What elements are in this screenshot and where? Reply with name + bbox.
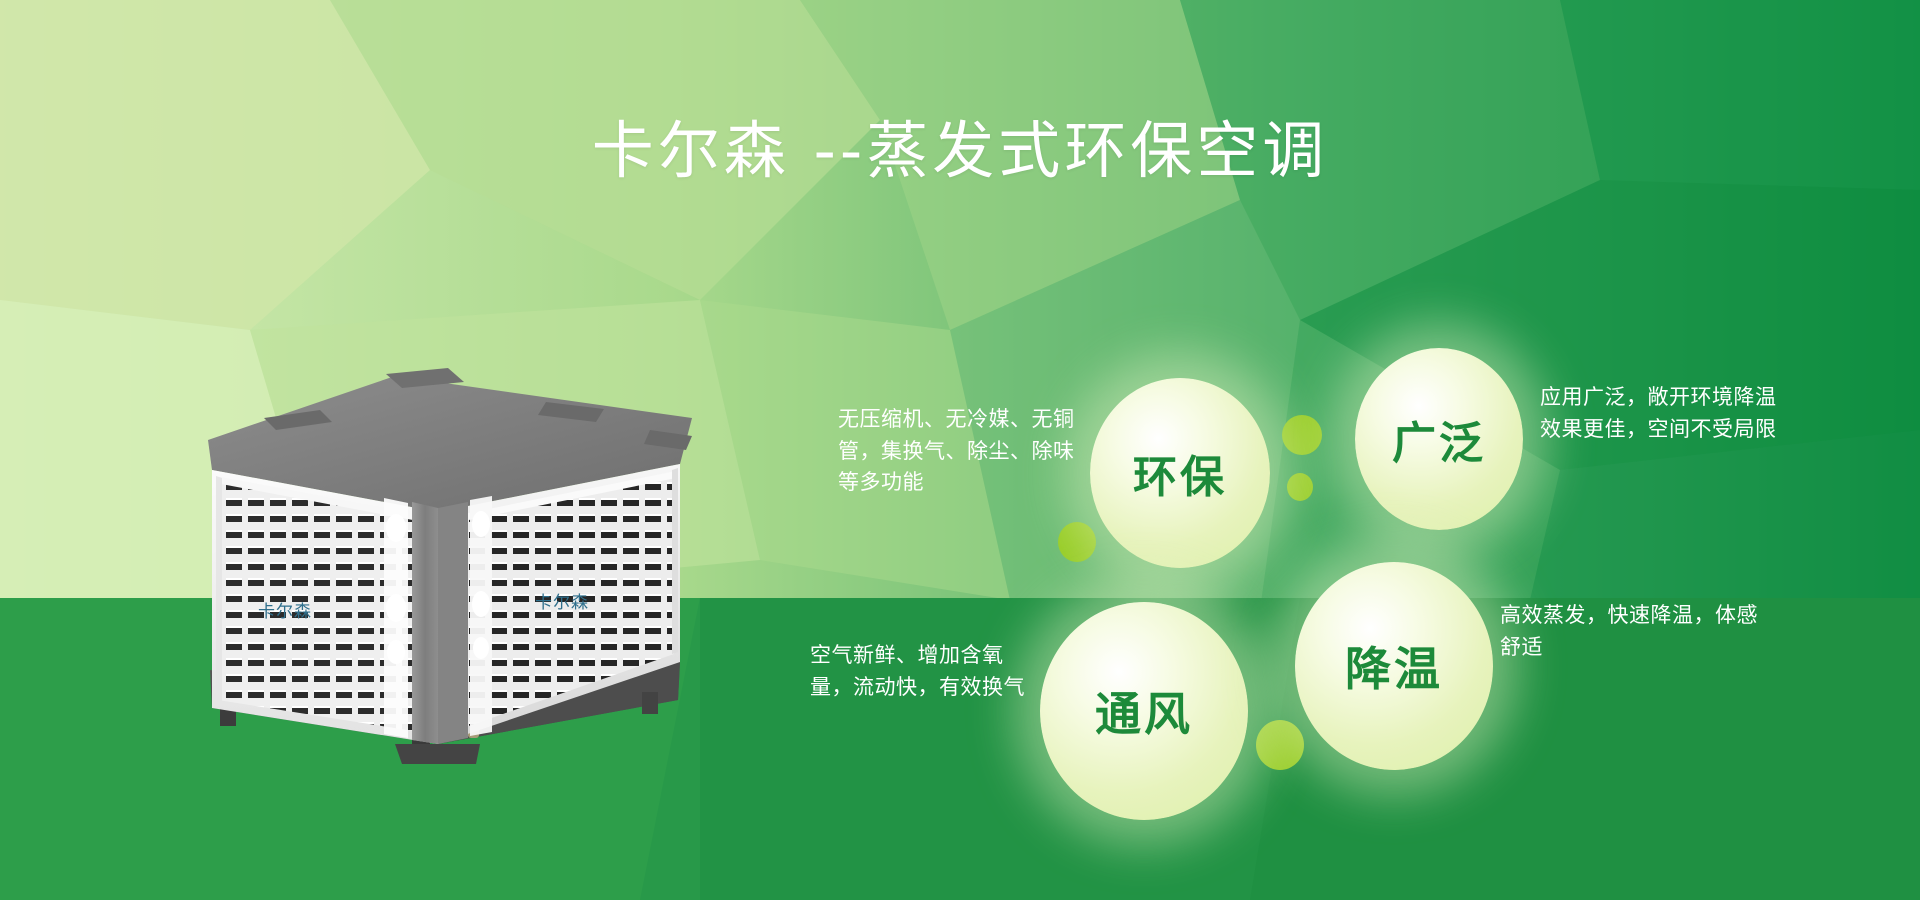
feature-caption-guangfan: 应用广泛，敞开环境降温效果更佳，空间不受局限 xyxy=(1540,382,1790,445)
feature-caption-huanbao: 无压缩机、无冷媒、无铜管，集换气、除尘、除味等多功能 xyxy=(838,404,1080,499)
accent-dot xyxy=(1256,720,1304,770)
accent-dot xyxy=(1287,473,1313,501)
feature-bubble-jiangwen: 降温 xyxy=(1295,562,1493,770)
page-title: 卡尔森 --蒸发式环保空调 xyxy=(0,118,1920,183)
product-brand-left: 卡尔森 xyxy=(258,602,312,622)
accent-dot xyxy=(1058,522,1096,562)
feature-bubble-tongfeng: 通风 xyxy=(1040,602,1248,820)
feature-bubble-label: 广泛 xyxy=(1392,407,1486,471)
feature-bubble-guangfan: 广泛 xyxy=(1355,348,1523,530)
feature-bubble-label: 降温 xyxy=(1345,633,1443,699)
promo-banner: 卡尔森 --蒸发式环保空调 xyxy=(0,0,1920,900)
product-brand-right: 卡尔森 xyxy=(535,593,589,613)
feature-bubble-huanbao: 环保 xyxy=(1090,378,1270,568)
product-image: 卡尔森 卡尔森 xyxy=(180,352,720,772)
evaporative-air-cooler-illustration: 卡尔森 卡尔森 xyxy=(180,352,720,772)
feature-bubble-label: 环保 xyxy=(1133,441,1227,505)
feature-caption-tongfeng: 空气新鲜、增加含氧量，流动快，有效换气 xyxy=(810,640,1040,703)
accent-dot xyxy=(1282,415,1322,455)
feature-bubble-label: 通风 xyxy=(1095,678,1193,744)
feature-caption-jiangwen: 高效蒸发，快速降温，体感舒适 xyxy=(1500,600,1770,663)
